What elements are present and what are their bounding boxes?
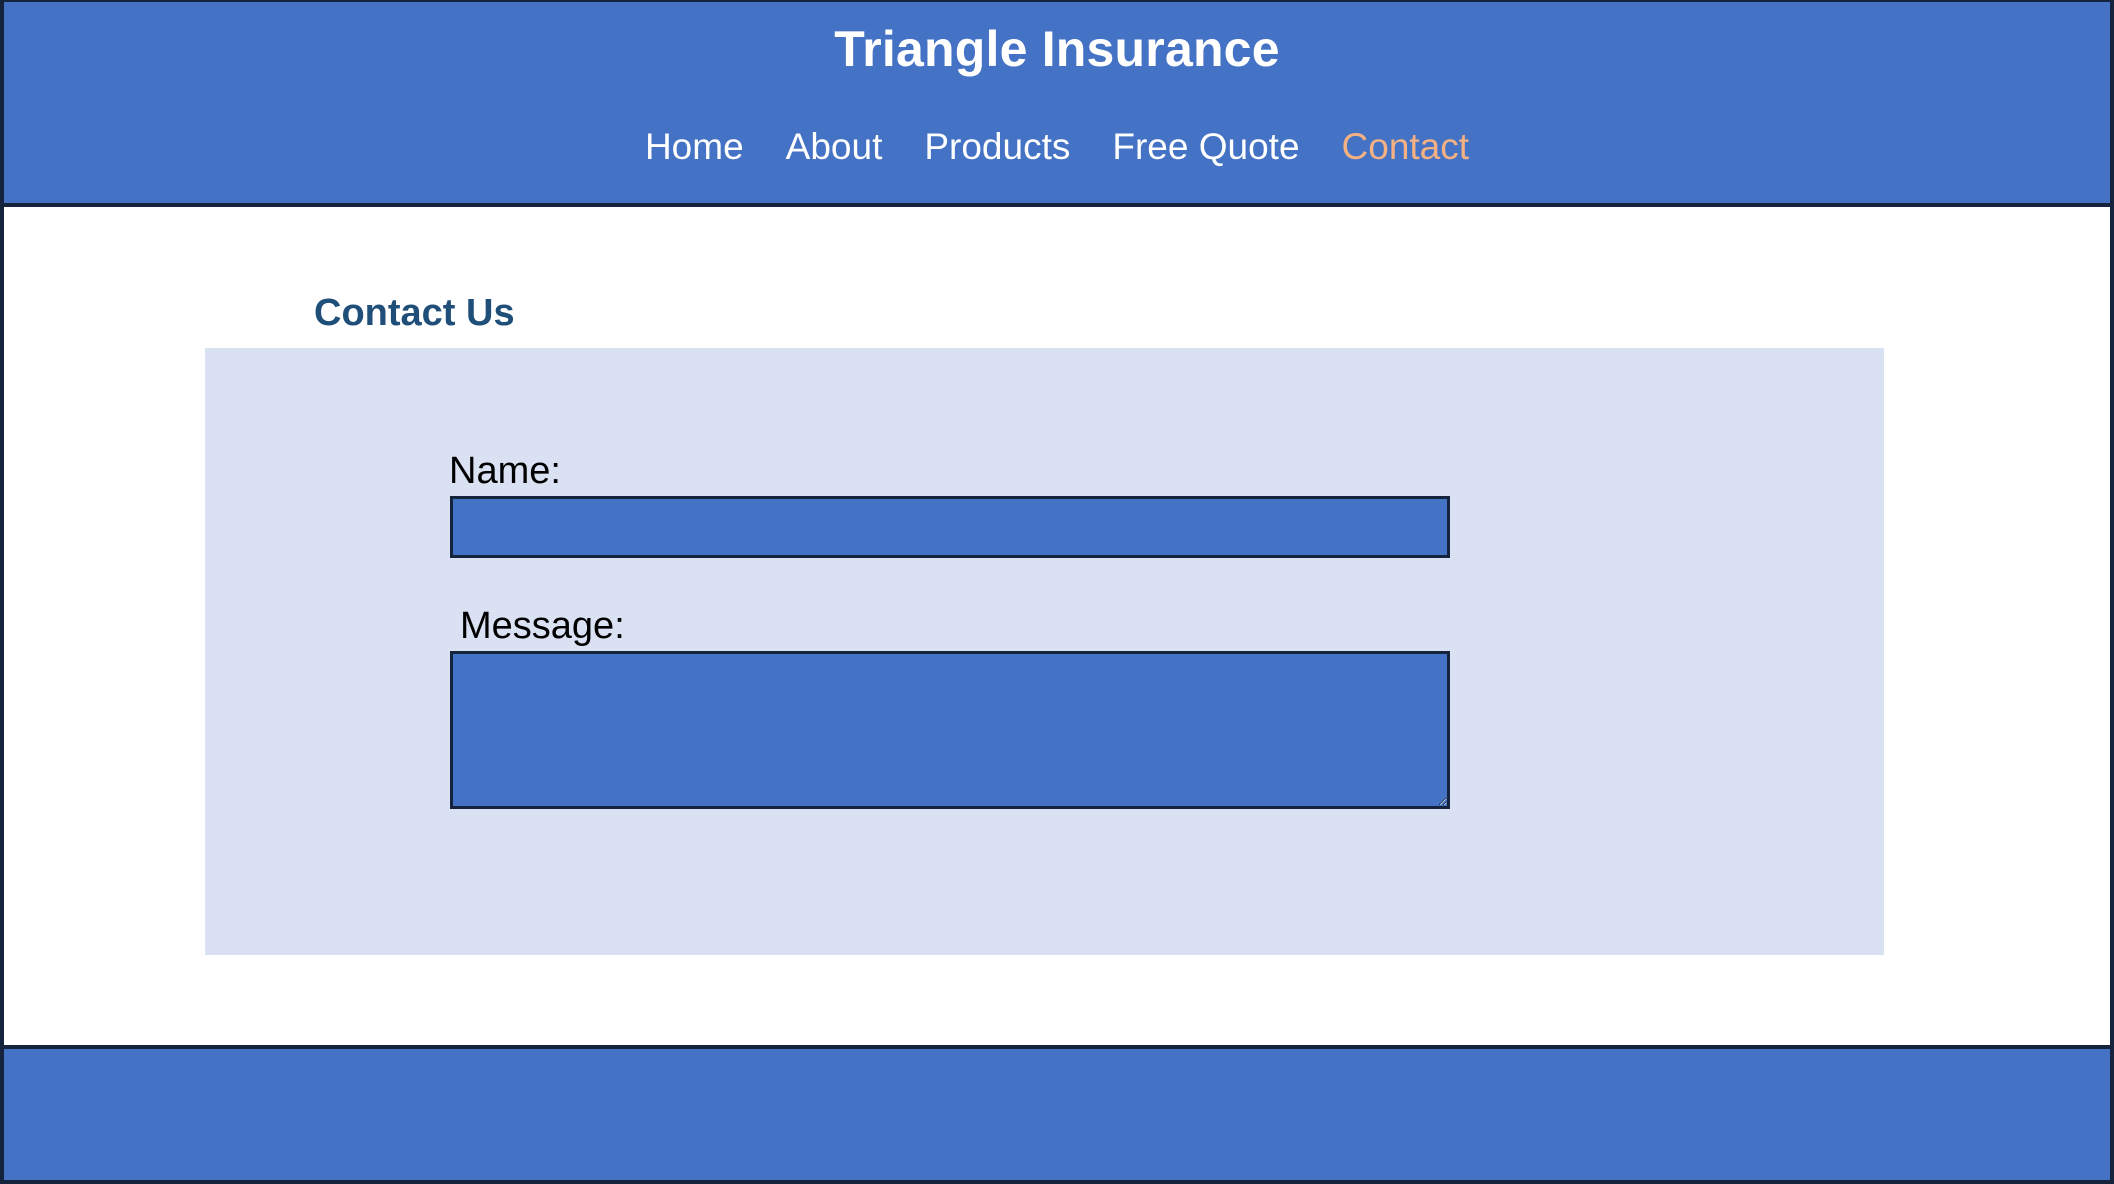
site-footer <box>4 1045 2110 1180</box>
nav-item-products[interactable]: Products <box>924 124 1070 170</box>
message-input[interactable] <box>450 651 1450 809</box>
site-title: Triangle Insurance <box>4 18 2110 80</box>
page-root: Triangle Insurance Home About Products F… <box>0 0 2114 1184</box>
name-input[interactable] <box>450 496 1450 558</box>
nav-item-home[interactable]: Home <box>645 124 744 170</box>
contact-form-panel: Name: Message: Submit <box>205 348 1884 955</box>
main-content: Contact Us Name: Message: Submit <box>4 207 2110 1045</box>
nav-item-contact[interactable]: Contact <box>1342 124 1470 170</box>
message-field-label: Message: <box>460 603 625 649</box>
main-nav: Home About Products Free Quote Contact <box>4 124 2110 170</box>
nav-item-about[interactable]: About <box>786 124 883 170</box>
site-header: Triangle Insurance Home About Products F… <box>4 2 2110 207</box>
nav-item-free-quote[interactable]: Free Quote <box>1112 124 1299 170</box>
name-field-label: Name: <box>449 448 561 494</box>
page-title: Contact Us <box>314 290 515 336</box>
